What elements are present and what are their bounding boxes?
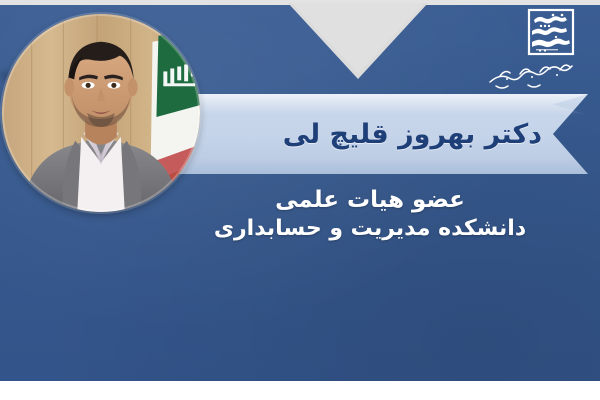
person-name: دکتر بهروز قلیچ لی (150, 94, 588, 174)
faculty-role-line: عضو هیات علمی (170, 186, 570, 215)
faculty-profile-card: دکتر بهروز قلیچ لی عضو هیات علمی دانشکده… (0, 0, 600, 400)
name-ribbon: دکتر بهروز قلیچ لی (150, 94, 588, 174)
university-logo (482, 6, 586, 94)
department-line: دانشکده مدیریت و حسابداری (170, 215, 570, 243)
portrait-photo (2, 14, 200, 212)
subtitle-block: عضو هیات علمی دانشکده مدیریت و حسابداری (170, 186, 570, 244)
